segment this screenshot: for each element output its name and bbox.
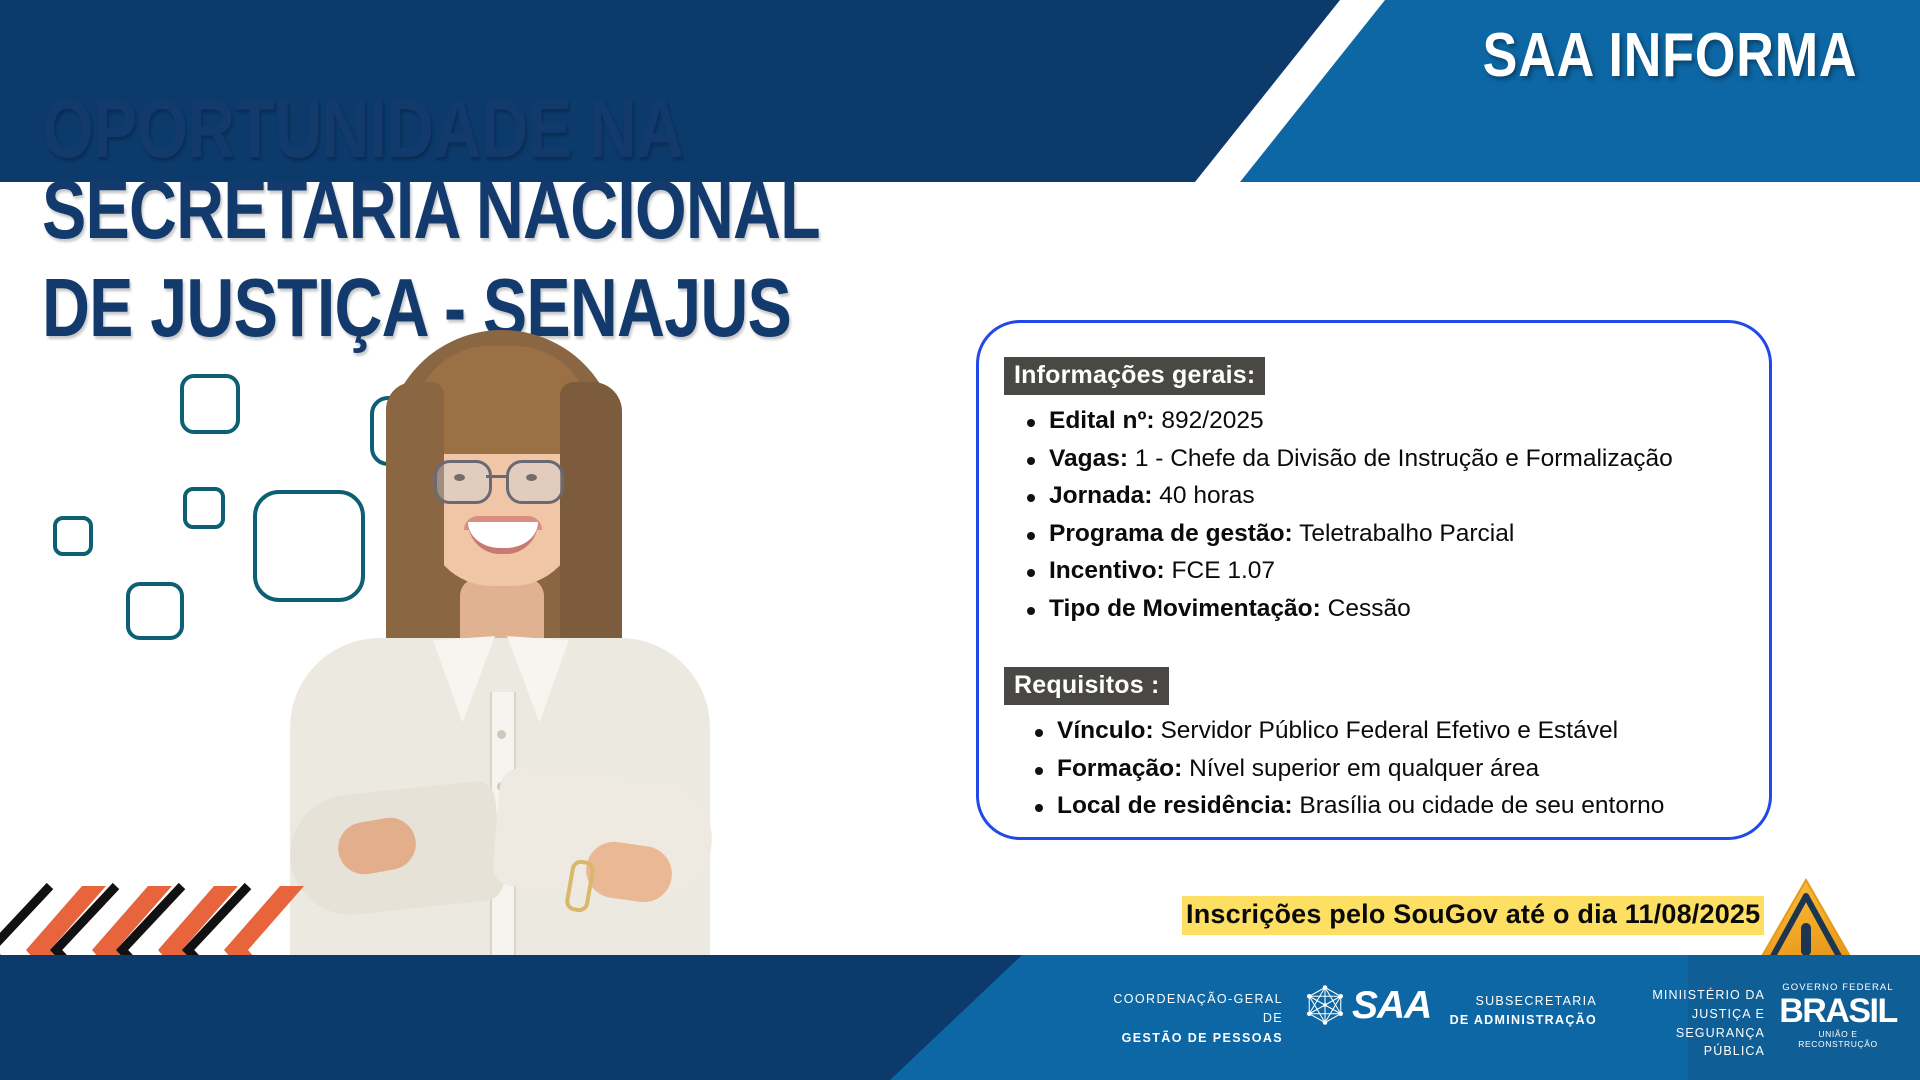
brasil-tagline: UNIÃO E RECONSTRUÇÃO (1778, 1029, 1898, 1049)
general-info-list: Edital nº: 892/2025 Vagas: 1 - Chefe da … (1001, 409, 1673, 634)
item-label: Local de residência: (1057, 792, 1293, 819)
cggp-logo-text: COORDENAÇÃO-GERAL DE GESTÃO DE PESSOAS (1093, 990, 1283, 1048)
glasses-lens-left (434, 460, 492, 504)
saa-logo: SAA (1304, 984, 1431, 1026)
item-label: Incentivo: (1049, 557, 1165, 584)
list-item: Local de residência: Brasília ou cidade … (1057, 794, 1664, 819)
cggp-line2: GESTÃO DE PESSOAS (1093, 1029, 1283, 1048)
shirt-button (497, 730, 506, 739)
ministerio-line1: MINIISTÉRIO DA (1617, 986, 1765, 1005)
poster-canvas: SAA INFORMA OPORTUNIDADE NA SECRETARIA N… (0, 0, 1920, 1080)
item-label: Tipo de Movimentação: (1049, 595, 1321, 622)
decor-square-icon (180, 374, 240, 434)
item-label: Vínculo: (1057, 717, 1154, 744)
item-label: Formação: (1057, 755, 1182, 782)
deadline-callout: Inscrições pelo SouGov até o dia 11/08/2… (1182, 896, 1764, 935)
glasses-bridge (486, 475, 506, 478)
list-item: Jornada: 40 horas (1049, 484, 1673, 509)
item-value: Brasília ou cidade de seu entorno (1299, 792, 1664, 819)
requirements-heading: Requisitos : (1004, 667, 1169, 705)
brasil-wordmark: BRASIL (1778, 994, 1898, 1028)
saa-network-icon (1304, 984, 1346, 1026)
item-label: Programa de gestão: (1049, 520, 1293, 547)
subsecretaria-text: SUBSECRETARIA DE ADMINISTRAÇÃO (1437, 992, 1597, 1031)
subsecretaria-line2: DE ADMINISTRAÇÃO (1437, 1011, 1597, 1030)
ministerio-text: MINIISTÉRIO DA JUSTIÇA E SEGURANÇA PÚBLI… (1617, 986, 1765, 1061)
page-title-line1: OPORTUNIDADE NA SECRETARIA NACIONAL (42, 82, 820, 256)
governo-federal-logo: GOVERNO FEDERAL BRASIL UNIÃO E RECONSTRU… (1778, 982, 1898, 1049)
list-item: Vagas: 1 - Chefe da Divisão de Instrução… (1049, 447, 1673, 472)
decor-square-icon (53, 516, 93, 556)
info-card: Informações gerais: Edital nº: 892/2025 … (976, 320, 1772, 840)
list-item: Tipo de Movimentação: Cessão (1049, 597, 1673, 622)
item-label: Edital nº: (1049, 407, 1155, 434)
item-label: Vagas: (1049, 445, 1128, 472)
item-value: FCE 1.07 (1172, 557, 1276, 584)
subsecretaria-line1: SUBSECRETARIA (1437, 992, 1597, 1011)
glasses-lens-right (506, 460, 564, 504)
ministerio-line2: JUSTIÇA E (1617, 1005, 1765, 1024)
hair-left (386, 382, 444, 682)
list-item: Formação: Nível superior em qualquer áre… (1057, 757, 1664, 782)
item-value: Nível superior em qualquer área (1189, 755, 1539, 782)
ministerio-line3: SEGURANÇA PÚBLICA (1617, 1024, 1765, 1062)
saa-wordmark: SAA (1352, 986, 1431, 1025)
requirements-list: Vínculo: Servidor Público Federal Efetiv… (1009, 719, 1664, 832)
item-value: Cessão (1328, 595, 1411, 622)
list-item: Vínculo: Servidor Público Federal Efetiv… (1057, 719, 1664, 744)
item-value: 892/2025 (1161, 407, 1263, 434)
list-item: Edital nº: 892/2025 (1049, 409, 1673, 434)
cggp-line1: COORDENAÇÃO-GERAL DE (1093, 990, 1283, 1029)
list-item: Programa de gestão: Teletrabalho Parcial (1049, 522, 1673, 547)
item-value: 1 - Chefe da Divisão de Instrução e Form… (1135, 445, 1673, 472)
decor-square-icon (183, 487, 225, 529)
item-value: Teletrabalho Parcial (1299, 520, 1514, 547)
page-title: OPORTUNIDADE NA SECRETARIA NACIONAL DE J… (42, 88, 1098, 348)
person-photo (268, 320, 728, 1020)
item-label: Jornada: (1049, 482, 1152, 509)
item-value: Servidor Público Federal Efetivo e Estáv… (1160, 717, 1618, 744)
saa-informa-tag: SAA INFORMA (1477, 22, 1863, 90)
decor-square-icon (126, 582, 184, 640)
item-value: 40 horas (1159, 482, 1254, 509)
list-item: Incentivo: FCE 1.07 (1049, 559, 1673, 584)
general-info-heading: Informações gerais: (1004, 357, 1265, 395)
